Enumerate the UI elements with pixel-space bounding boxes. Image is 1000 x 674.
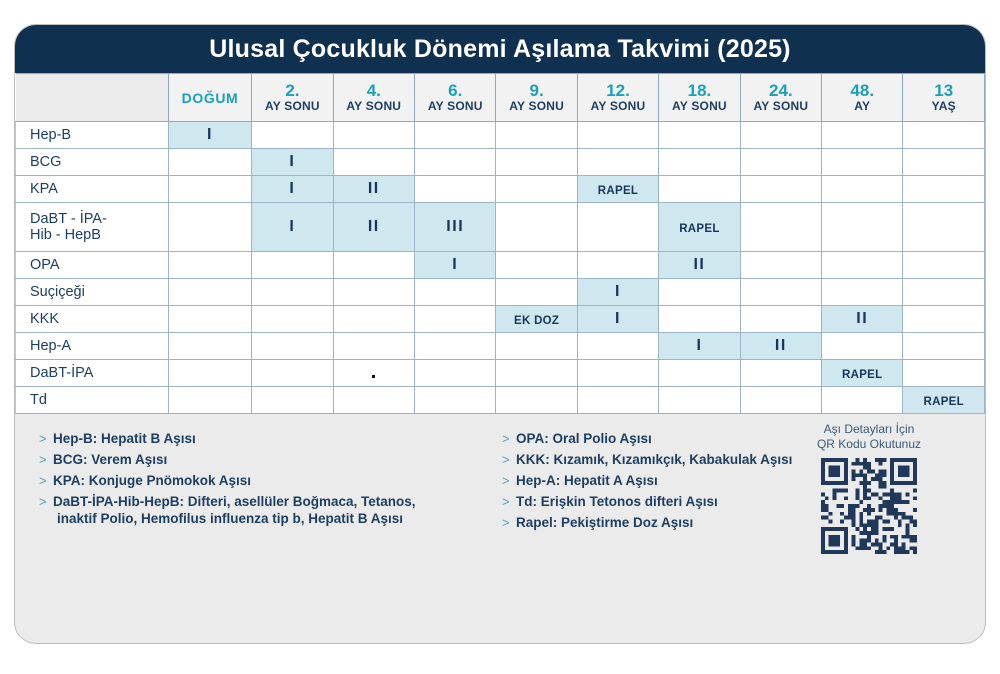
qr-caption-line2: QR Kodu Okutunuz xyxy=(817,437,921,451)
cell-r7-c2 xyxy=(252,306,333,333)
header-sub: AY SONU xyxy=(578,100,658,113)
cell-r1-c10 xyxy=(903,122,985,149)
row-label-8: Hep-A xyxy=(16,333,169,360)
table-header: DOĞUM 2. AY SONU 4. AY SONU 6. AY SONU 9… xyxy=(16,74,985,122)
cell-r7-c9: II xyxy=(822,306,903,333)
cell-r3-c5 xyxy=(496,176,577,203)
chevron-right-icon: > xyxy=(39,493,47,510)
cell-r8-c3 xyxy=(333,333,414,360)
row-label-7: KKK xyxy=(16,306,169,333)
cell-r10-c10: RAPEL xyxy=(903,387,985,414)
cell-r3-c10 xyxy=(903,176,985,203)
cell-r4-c8 xyxy=(740,203,821,252)
cell-r2-c4 xyxy=(415,149,496,176)
row-label-1: Hep-B xyxy=(16,122,169,149)
chevron-right-icon: > xyxy=(502,430,510,447)
cell-r4-c2: I xyxy=(252,203,333,252)
cell-r1-c4 xyxy=(415,122,496,149)
legend-text-continued: inaktif Polio, Hemofilus influenza tip b… xyxy=(53,510,499,527)
cell-r6-c5 xyxy=(496,279,577,306)
cell-r7-c7 xyxy=(659,306,740,333)
legend-text: Hep-B: Hepatit B Aşısı xyxy=(53,431,196,446)
cell-value: RAPEL xyxy=(679,223,719,235)
cell-r2-c6 xyxy=(577,149,658,176)
row-label-9: DaBT-İPA xyxy=(16,360,169,387)
cell-r2-c3 xyxy=(333,149,414,176)
cell-r4-c7: RAPEL xyxy=(659,203,740,252)
cell-value: RAPEL xyxy=(598,185,638,197)
cell-r1-c5 xyxy=(496,122,577,149)
cell-r8-c8: II xyxy=(740,333,821,360)
cell-value: RAPEL xyxy=(842,369,882,381)
cell-value: I xyxy=(615,310,621,327)
qr-caption: Aşı Detayları İçin QR Kodu Okutunuz xyxy=(789,422,949,452)
header-number: 2. xyxy=(252,82,332,99)
cell-value: I xyxy=(452,256,458,273)
legend-text: KKK: Kızamık, Kızamıkçık, Kabakulak Aşıs… xyxy=(516,452,792,467)
cell-value: II xyxy=(368,180,380,197)
column-header-month-18: 18. AY SONU xyxy=(659,74,740,122)
header-number: 24. xyxy=(741,82,821,99)
header-label: DOĞUM xyxy=(169,90,251,106)
dot-marker xyxy=(372,375,375,378)
table-row: KPAIIIRAPEL xyxy=(16,176,985,203)
cell-r6-c4 xyxy=(415,279,496,306)
column-header-month-4: 4. AY SONU xyxy=(333,74,414,122)
cell-r4-c3: II xyxy=(333,203,414,252)
header-sub: AY SONU xyxy=(741,100,821,113)
chevron-right-icon: > xyxy=(502,493,510,510)
cell-r4-c9 xyxy=(822,203,903,252)
column-header-month-12: 12. AY SONU xyxy=(577,74,658,122)
cell-value: II xyxy=(368,218,380,235)
cell-r2-c2: I xyxy=(252,149,333,176)
chevron-right-icon: > xyxy=(502,514,510,531)
row-label-4: DaBT - İPA-Hib - HepB xyxy=(16,203,169,252)
cell-r5-c7: II xyxy=(659,252,740,279)
cell-r10-c5 xyxy=(496,387,577,414)
legend-item: >DaBT-İPA-Hib-HepB: Difteri, asellüler B… xyxy=(39,493,499,527)
header-number: 48. xyxy=(822,82,902,99)
column-header-month-6: 6. AY SONU xyxy=(415,74,496,122)
cell-r4-c5 xyxy=(496,203,577,252)
title-bar: Ulusal Çocukluk Dönemi Aşılama Takvimi (… xyxy=(15,25,985,73)
cell-r9-c2 xyxy=(252,360,333,387)
cell-r6-c10 xyxy=(903,279,985,306)
cell-r9-c8 xyxy=(740,360,821,387)
cell-r2-c10 xyxy=(903,149,985,176)
cell-r8-c10 xyxy=(903,333,985,360)
header-sub: AY SONU xyxy=(334,100,414,113)
table-row: OPAIII xyxy=(16,252,985,279)
cell-r10-c7 xyxy=(659,387,740,414)
legend-left: >Hep-B: Hepatit B Aşısı >BCG: Verem Aşıs… xyxy=(39,430,499,531)
cell-value: RAPEL xyxy=(923,396,963,408)
cell-r6-c2 xyxy=(252,279,333,306)
cell-r9-c1 xyxy=(168,360,251,387)
cell-r2-c7 xyxy=(659,149,740,176)
cell-r1-c9 xyxy=(822,122,903,149)
cell-r6-c7 xyxy=(659,279,740,306)
header-number: 18. xyxy=(659,82,739,99)
cell-r2-c9 xyxy=(822,149,903,176)
legend-item: >Hep-B: Hepatit B Aşısı xyxy=(39,430,499,447)
cell-r8-c9 xyxy=(822,333,903,360)
column-header-month-9: 9. AY SONU xyxy=(496,74,577,122)
cell-r3-c8 xyxy=(740,176,821,203)
row-label-5: OPA xyxy=(16,252,169,279)
cell-r7-c1 xyxy=(168,306,251,333)
cell-r10-c9 xyxy=(822,387,903,414)
cell-r10-c6 xyxy=(577,387,658,414)
chevron-right-icon: > xyxy=(39,430,47,447)
cell-r7-c10 xyxy=(903,306,985,333)
chevron-right-icon: > xyxy=(502,451,510,468)
cell-r7-c8 xyxy=(740,306,821,333)
header-number: 12. xyxy=(578,82,658,99)
legend-item: >BCG: Verem Aşısı xyxy=(39,451,499,468)
legend-left-list: >Hep-B: Hepatit B Aşısı >BCG: Verem Aşıs… xyxy=(39,430,499,527)
cell-r7-c5: EK DOZ xyxy=(496,306,577,333)
cell-value: EK DOZ xyxy=(514,315,559,327)
legend-text: DaBT-İPA-Hib-HepB: Difteri, asellüler Bo… xyxy=(53,494,416,509)
header-number: 4. xyxy=(334,82,414,99)
column-header-month-48: 48. AY xyxy=(822,74,903,122)
legend-item: >Td: Erişkin Tetonos difteri Aşısı xyxy=(502,493,832,510)
cell-r6-c3 xyxy=(333,279,414,306)
cell-r3-c2: I xyxy=(252,176,333,203)
header-number: 13 xyxy=(903,82,984,99)
cell-r10-c2 xyxy=(252,387,333,414)
legend-text: BCG: Verem Aşısı xyxy=(53,452,167,467)
cell-r7-c4 xyxy=(415,306,496,333)
cell-r4-c10 xyxy=(903,203,985,252)
cell-r3-c6: RAPEL xyxy=(577,176,658,203)
cell-r1-c3 xyxy=(333,122,414,149)
legend-right: >OPA: Oral Polio Aşısı >KKK: Kızamık, Kı… xyxy=(502,430,832,535)
cell-r9-c6 xyxy=(577,360,658,387)
cell-r2-c1 xyxy=(168,149,251,176)
cell-r9-c4 xyxy=(415,360,496,387)
cell-r5-c1 xyxy=(168,252,251,279)
header-number: 6. xyxy=(415,82,495,99)
qr-code-icon[interactable] xyxy=(821,458,917,554)
column-header-year-13: 13 YAŞ xyxy=(903,74,985,122)
cell-r3-c1 xyxy=(168,176,251,203)
footer: >Hep-B: Hepatit B Aşısı >BCG: Verem Aşıs… xyxy=(15,414,985,584)
table-row: SuçiçeğiI xyxy=(16,279,985,306)
cell-value: I xyxy=(615,283,621,300)
header-sub: AY SONU xyxy=(415,100,495,113)
cell-r9-c10 xyxy=(903,360,985,387)
table-row: DaBT - İPA-Hib - HepBIIIIIIRAPEL xyxy=(16,203,985,252)
legend-item: >KKK: Kızamık, Kızamıkçık, Kabakulak Aşı… xyxy=(502,451,832,468)
cell-r2-c5 xyxy=(496,149,577,176)
cell-value: I xyxy=(207,126,213,143)
schedule-table: DOĞUM 2. AY SONU 4. AY SONU 6. AY SONU 9… xyxy=(15,73,985,414)
cell-r8-c7: I xyxy=(659,333,740,360)
cell-r8-c1 xyxy=(168,333,251,360)
cell-r4-c4: III xyxy=(415,203,496,252)
cell-r5-c10 xyxy=(903,252,985,279)
cell-r9-c5 xyxy=(496,360,577,387)
cell-r5-c4: I xyxy=(415,252,496,279)
legend-text: OPA: Oral Polio Aşısı xyxy=(516,431,652,446)
cell-r1-c2 xyxy=(252,122,333,149)
column-header-month-24: 24. AY SONU xyxy=(740,74,821,122)
chevron-right-icon: > xyxy=(39,451,47,468)
table-row: Hep-AIII xyxy=(16,333,985,360)
cell-r5-c3 xyxy=(333,252,414,279)
cell-value: II xyxy=(693,256,705,273)
cell-r6-c8 xyxy=(740,279,821,306)
cell-r6-c9 xyxy=(822,279,903,306)
legend-text: KPA: Konjuge Pnömokok Aşısı xyxy=(53,473,251,488)
cell-r8-c6 xyxy=(577,333,658,360)
cell-r7-c6: I xyxy=(577,306,658,333)
chevron-right-icon: > xyxy=(502,472,510,489)
cell-value: I xyxy=(289,180,295,197)
table-body: Hep-BIBCGIKPAIIIRAPELDaBT - İPA-Hib - He… xyxy=(16,122,985,414)
chevron-right-icon: > xyxy=(39,472,47,489)
page-title: Ulusal Çocukluk Dönemi Aşılama Takvimi (… xyxy=(209,35,790,64)
cell-r1-c7 xyxy=(659,122,740,149)
cell-value: III xyxy=(446,218,464,235)
header-corner xyxy=(16,74,169,122)
cell-r1-c1: I xyxy=(168,122,251,149)
qr-caption-line1: Aşı Detayları İçin xyxy=(824,422,915,436)
cell-r9-c9: RAPEL xyxy=(822,360,903,387)
legend-right-list: >OPA: Oral Polio Aşısı >KKK: Kızamık, Kı… xyxy=(502,430,832,531)
cell-r5-c5 xyxy=(496,252,577,279)
column-header-month-2: 2. AY SONU xyxy=(252,74,333,122)
cell-r10-c1 xyxy=(168,387,251,414)
legend-item: >OPA: Oral Polio Aşısı xyxy=(502,430,832,447)
cell-r3-c3: II xyxy=(333,176,414,203)
cell-r9-c3 xyxy=(333,360,414,387)
cell-value: II xyxy=(775,337,787,354)
header-sub: AY xyxy=(822,100,902,113)
table-row: KKKEK DOZIII xyxy=(16,306,985,333)
cell-r8-c2 xyxy=(252,333,333,360)
row-label-10: Td xyxy=(16,387,169,414)
cell-r4-c1 xyxy=(168,203,251,252)
vaccination-schedule-card: Ulusal Çocukluk Dönemi Aşılama Takvimi (… xyxy=(14,24,986,644)
row-label-2: BCG xyxy=(16,149,169,176)
cell-r3-c7 xyxy=(659,176,740,203)
cell-r8-c5 xyxy=(496,333,577,360)
header-sub: AY SONU xyxy=(252,100,332,113)
cell-r5-c9 xyxy=(822,252,903,279)
cell-r5-c8 xyxy=(740,252,821,279)
cell-value: II xyxy=(856,310,868,327)
cell-r6-c1 xyxy=(168,279,251,306)
legend-item: >Rapel: Pekiştirme Doz Aşısı xyxy=(502,514,832,531)
header-sub: AY SONU xyxy=(496,100,576,113)
cell-r1-c6 xyxy=(577,122,658,149)
cell-r10-c8 xyxy=(740,387,821,414)
cell-r3-c9 xyxy=(822,176,903,203)
table-row: TdRAPEL xyxy=(16,387,985,414)
row-label-6: Suçiçeği xyxy=(16,279,169,306)
cell-r3-c4 xyxy=(415,176,496,203)
cell-r1-c8 xyxy=(740,122,821,149)
cell-r2-c8 xyxy=(740,149,821,176)
cell-r7-c3 xyxy=(333,306,414,333)
header-row: DOĞUM 2. AY SONU 4. AY SONU 6. AY SONU 9… xyxy=(16,74,985,122)
cell-r10-c4 xyxy=(415,387,496,414)
row-label-3: KPA xyxy=(16,176,169,203)
table-row: BCGI xyxy=(16,149,985,176)
cell-r8-c4 xyxy=(415,333,496,360)
cell-r5-c6 xyxy=(577,252,658,279)
cell-r4-c6 xyxy=(577,203,658,252)
header-number: 9. xyxy=(496,82,576,99)
cell-value: I xyxy=(696,337,702,354)
header-sub: AY SONU xyxy=(659,100,739,113)
cell-value: I xyxy=(289,153,295,170)
legend-item: >KPA: Konjuge Pnömokok Aşısı xyxy=(39,472,499,489)
legend-text: Td: Erişkin Tetonos difteri Aşısı xyxy=(516,494,718,509)
legend-text: Hep-A: Hepatit A Aşısı xyxy=(516,473,658,488)
legend-text: Rapel: Pekiştirme Doz Aşısı xyxy=(516,515,693,530)
column-header-dogum: DOĞUM xyxy=(168,74,251,122)
qr-block: Aşı Detayları İçin QR Kodu Okutunuz xyxy=(789,422,949,554)
cell-r10-c3 xyxy=(333,387,414,414)
cell-r5-c2 xyxy=(252,252,333,279)
cell-r6-c6: I xyxy=(577,279,658,306)
cell-r9-c7 xyxy=(659,360,740,387)
table-row: DaBT-İPARAPEL xyxy=(16,360,985,387)
cell-value: I xyxy=(289,218,295,235)
header-sub: YAŞ xyxy=(903,100,984,113)
table-row: Hep-BI xyxy=(16,122,985,149)
legend-item: >Hep-A: Hepatit A Aşısı xyxy=(502,472,832,489)
